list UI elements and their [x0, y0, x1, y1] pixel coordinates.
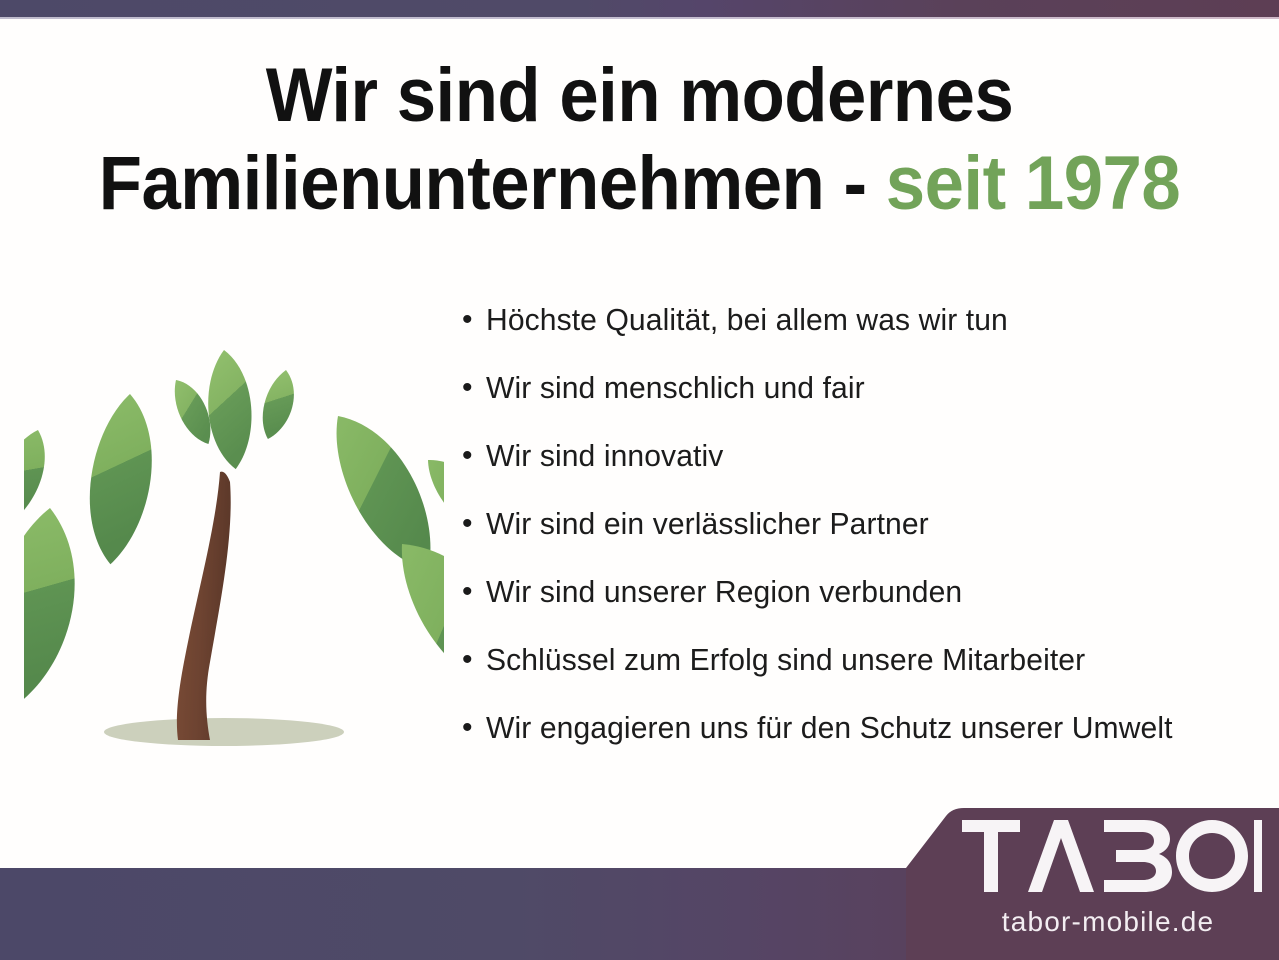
tree-trunk: [177, 472, 231, 740]
leaf-top-center: [203, 349, 256, 470]
list-item-label: Wir sind ein verlässlicher Partner: [486, 504, 929, 544]
list-item-label: Schlüssel zum Erfolg sind unsere Mitarbe…: [486, 640, 1085, 680]
leaf-top-right-small: [250, 367, 307, 443]
logo-url-label: tabor-mobile.de: [963, 906, 1253, 938]
headline-line-2-plain: Familienunternehmen -: [99, 141, 886, 226]
benefits-list: • Höchste Qualität, bei allem was wir tu…: [458, 300, 1268, 776]
headline-line-2: Familienunternehmen - seit 1978: [45, 140, 1234, 228]
list-item-label: Wir engagieren uns für den Schutz unsere…: [486, 708, 1173, 748]
bullet-marker-icon: •: [458, 300, 486, 340]
list-item-label: Wir sind menschlich und fair: [486, 368, 865, 408]
headline-line-1: Wir sind ein modernes: [45, 52, 1234, 140]
logo-wordmark: [962, 820, 1262, 897]
bullet-marker-icon: •: [458, 436, 486, 476]
tree-shadow: [104, 718, 344, 746]
bullet-marker-icon: •: [458, 368, 486, 408]
list-item: • Wir sind innovativ: [458, 436, 1268, 504]
tabor-logotype-icon: [962, 820, 1262, 892]
tree-illustration: [24, 332, 444, 772]
list-item-label: Wir sind unserer Region verbunden: [486, 572, 962, 612]
slide-canvas: Wir sind ein modernes Familienunternehme…: [0, 0, 1279, 960]
list-item: • Höchste Qualität, bei allem was wir tu…: [458, 300, 1268, 368]
list-item: • Wir sind ein verlässlicher Partner: [458, 504, 1268, 572]
list-item-label: Wir sind innovativ: [486, 436, 723, 476]
leaf-top-left-small: [171, 374, 216, 449]
list-item: • Wir engagieren uns für den Schutz unse…: [458, 708, 1268, 776]
top-accent-bar: [0, 0, 1279, 17]
list-item: • Schlüssel zum Erfolg sind unsere Mitar…: [458, 640, 1268, 708]
list-item: • Wir sind unserer Region verbunden: [458, 572, 1268, 640]
list-item: • Wir sind menschlich und fair: [458, 368, 1268, 436]
bullet-marker-icon: •: [458, 708, 486, 748]
list-item-label: Höchste Qualität, bei allem was wir tun: [486, 300, 1008, 340]
bullet-marker-icon: •: [458, 572, 486, 612]
page-title: Wir sind ein modernes Familienunternehme…: [45, 52, 1234, 228]
leaf-upper-left: [65, 390, 177, 569]
bullet-marker-icon: •: [458, 504, 486, 544]
headline-accent-year: seit 1978: [886, 141, 1180, 226]
tree-icon: [24, 332, 444, 772]
top-accent-divider: [0, 17, 1279, 19]
bullet-marker-icon: •: [458, 640, 486, 680]
